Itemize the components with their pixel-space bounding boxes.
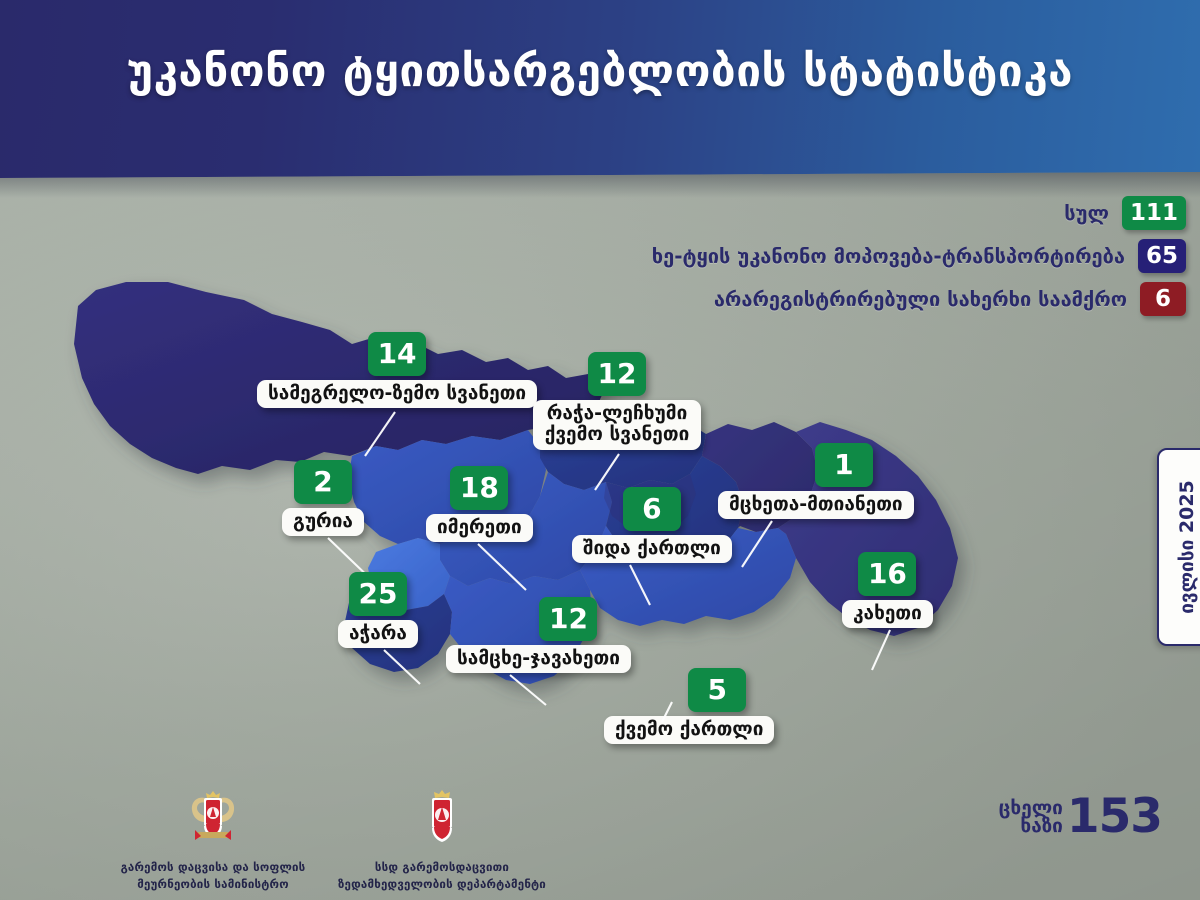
callout-label-adjara: აჭარა: [338, 620, 418, 648]
leader-line-mtskheta: [738, 519, 778, 571]
department-line2: ზედამხედველობის დეპარტამენტი: [338, 877, 546, 891]
legend-label-total: სულ: [1064, 201, 1109, 225]
leader-line-imereti: [476, 542, 532, 596]
leader-line-adjara: [382, 648, 426, 690]
callout-adjara: 25 აჭარა: [338, 572, 418, 648]
legend-badge-timber: 65: [1138, 239, 1186, 273]
legend-label-sawmill: არარეგისტრირებული სახერხი საამქრო: [714, 287, 1127, 311]
hotline: ცხელი ხაზი 153: [999, 796, 1162, 838]
department-coat-of-arms-icon: [420, 788, 464, 848]
legend-badge-total: 111: [1122, 196, 1186, 230]
callout-kakheti: 16 კახეთი: [842, 552, 933, 628]
date-tab-label: ივლისი 2025: [1176, 480, 1198, 614]
callout-value-adjara: 25: [349, 572, 407, 616]
callout-label-imereti: იმერეთი: [426, 514, 533, 542]
legend: სულ 111 ხე-ტყის უკანონო მოპოვება-ტრანსპო…: [406, 196, 1186, 325]
ministry-line1: გარემოს დაცვისა და სოფლის: [121, 860, 306, 874]
callout-samegrelo: 14 სამეგრელო-ზემო სვანეთი: [257, 332, 537, 408]
page-title: უკანონო ტყითსარგებლობის სტატისტიკა: [0, 46, 1200, 97]
ministry-line2: მეურნეობის სამინისტრო: [137, 877, 289, 891]
callout-value-samegrelo: 14: [368, 332, 426, 376]
callout-value-guria: 2: [294, 460, 352, 504]
callout-value-samtskhe: 12: [539, 597, 597, 641]
leader-line-kvemo: [656, 700, 682, 726]
ministry-coat-of-arms-icon: [185, 788, 241, 848]
callout-label-kakheti: კახეთი: [842, 600, 933, 628]
callout-label-mtskheta: მცხეთა-მთიანეთი: [718, 491, 914, 519]
callout-kvemo: 5 ქვემო ქართლი: [604, 668, 774, 744]
callout-label-shida: შიდა ქართლი: [572, 535, 732, 563]
callout-value-mtskheta: 1: [815, 443, 873, 487]
callout-label-kvemo: ქვემო ქართლი: [604, 716, 774, 744]
legend-row-timber: ხე-ტყის უკანონო მოპოვება-ტრანსპორტირება …: [406, 239, 1186, 273]
hotline-word2: ხაზი: [999, 817, 1063, 836]
hotline-words: ცხელი ხაზი: [999, 799, 1063, 836]
callout-label-samegrelo: სამეგრელო-ზემო სვანეთი: [257, 380, 537, 408]
legend-badge-sawmill: 6: [1140, 282, 1186, 316]
callout-label-guria: გურია: [282, 508, 364, 536]
legend-row-sawmill: არარეგისტრირებული სახერხი საამქრო 6: [406, 282, 1186, 316]
callout-value-racha: 12: [588, 352, 646, 396]
callout-samtskhe: 12 სამცხე-ჯავახეთი: [446, 597, 631, 673]
hotline-number: 153: [1067, 796, 1162, 838]
leader-line-samegrelo: [361, 410, 401, 460]
leader-line-kakheti: [868, 628, 898, 674]
legend-row-total: სულ 111: [406, 196, 1186, 230]
callout-value-kakheti: 16: [858, 552, 916, 596]
legend-label-timber: ხე-ტყის უკანონო მოპოვება-ტრანსპორტირება: [652, 244, 1125, 268]
infographic-root: უკანონო ტყითსარგებლობის სტატისტიკა: [0, 0, 1200, 900]
date-tab: ივლისი 2025: [1157, 448, 1200, 646]
callout-mtskheta: 1 მცხეთა-მთიანეთი: [718, 443, 914, 519]
leader-line-samtskhe: [508, 673, 552, 711]
callout-imereti: 18 იმერეთი: [426, 466, 533, 542]
callout-racha: 12 რაჭა-ლეჩხუმიქვემო სვანეთი: [533, 352, 701, 450]
org-department: სსდ გარემოსდაცვითი ზედამხედველობის დეპარ…: [312, 788, 572, 894]
org-ministry: გარემოს დაცვისა და სოფლის მეურნეობის სამ…: [88, 788, 338, 894]
callout-label-racha: რაჭა-ლეჩხუმიქვემო სვანეთი: [533, 400, 701, 450]
callout-value-shida: 6: [623, 487, 681, 531]
callout-value-kvemo: 5: [688, 668, 746, 712]
callout-value-imereti: 18: [450, 466, 508, 510]
department-line1: სსდ გარემოსდაცვითი: [375, 860, 509, 874]
callout-guria: 2 გურია: [282, 460, 364, 536]
callout-shida: 6 შიდა ქართლი: [572, 487, 732, 563]
